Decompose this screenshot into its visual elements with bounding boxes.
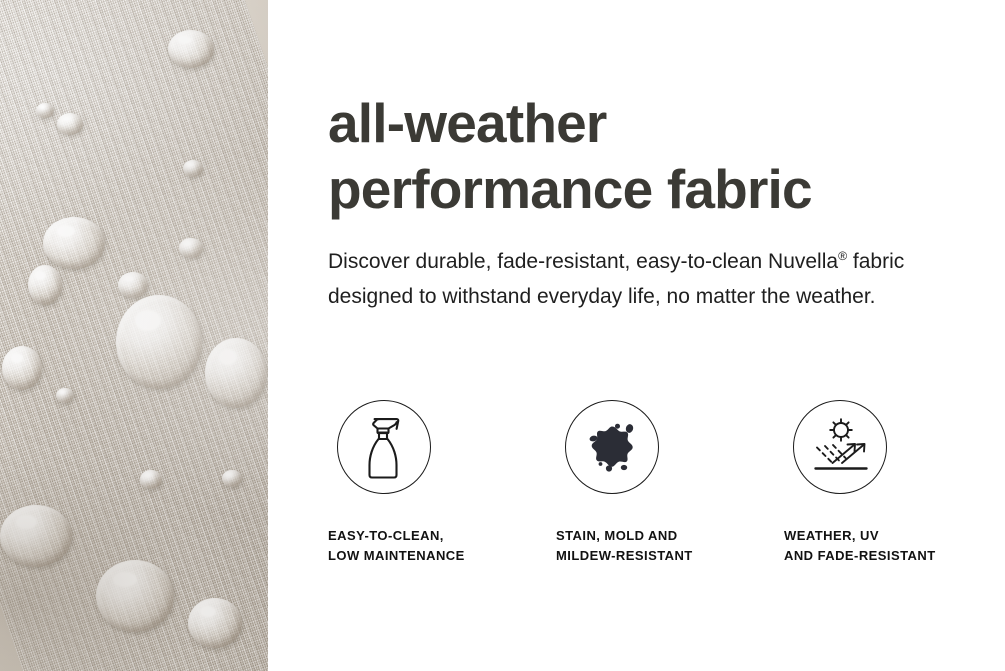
- feature-item-easy-to-clean: EASY-TO-CLEAN, LOW MAINTENANCE: [328, 400, 543, 566]
- feature-item-weather-uv-resistant: WEATHER, UV AND FADE-RESISTANT: [784, 400, 999, 566]
- stain-splat-icon: [565, 400, 659, 494]
- feature-caption: STAIN, MOLD AND MILDEW-RESISTANT: [556, 494, 771, 566]
- promo-description: Discover durable, fade-resistant, easy-t…: [328, 244, 948, 314]
- promo-content: all-weather performance fabric Discover …: [328, 0, 1005, 671]
- registered-trademark-symbol: ®: [838, 249, 847, 263]
- feature-caption: WEATHER, UV AND FADE-RESISTANT: [784, 494, 999, 566]
- fabric-water-beading-photo: [0, 0, 268, 671]
- promo-description-lead: Discover durable, fade-resistant, easy-t…: [328, 250, 838, 273]
- feature-item-stain-resistant: STAIN, MOLD AND MILDEW-RESISTANT: [556, 400, 771, 566]
- feature-caption: EASY-TO-CLEAN, LOW MAINTENANCE: [328, 494, 543, 566]
- page-title: all-weather performance fabric: [328, 90, 988, 222]
- promo-banner: all-weather performance fabric Discover …: [0, 0, 1005, 671]
- sun-reflect-icon: [793, 400, 887, 494]
- spray-bottle-icon: [337, 400, 431, 494]
- photo-lighting-overlay: [0, 0, 268, 671]
